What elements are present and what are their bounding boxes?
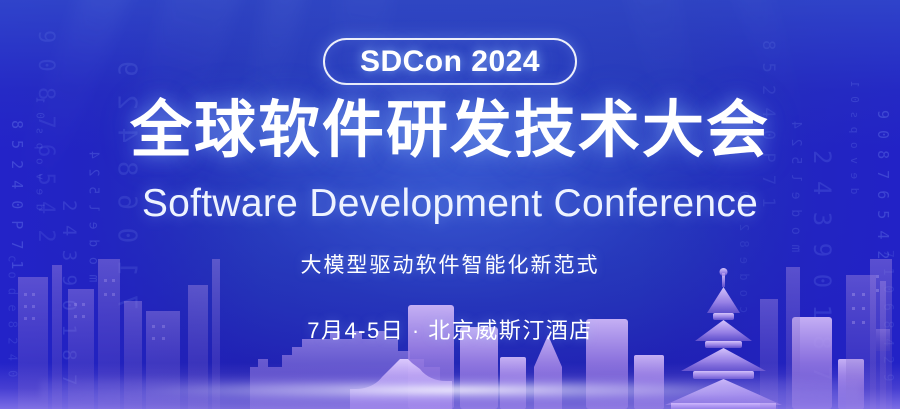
conference-banner: 8 5 2 4 0 P 7 1 d e v o p s 0 1 2 4 3 9 … [0,0,900,409]
banner-title-chinese: 全球软件研发技术大会 [0,100,900,162]
banner-tagline: 大模型驱动软件智能化新范式 [0,249,900,279]
banner-content: SDCon 2024 全球软件研发技术大会 Software Developme… [0,0,900,409]
event-badge: SDCon 2024 [323,38,577,85]
event-badge-label: SDCon 2024 [360,45,540,79]
banner-title-english: Software Development Conference [0,184,900,223]
banner-date-venue: 7月4-5日 · 北京威斯汀酒店 [0,313,900,345]
